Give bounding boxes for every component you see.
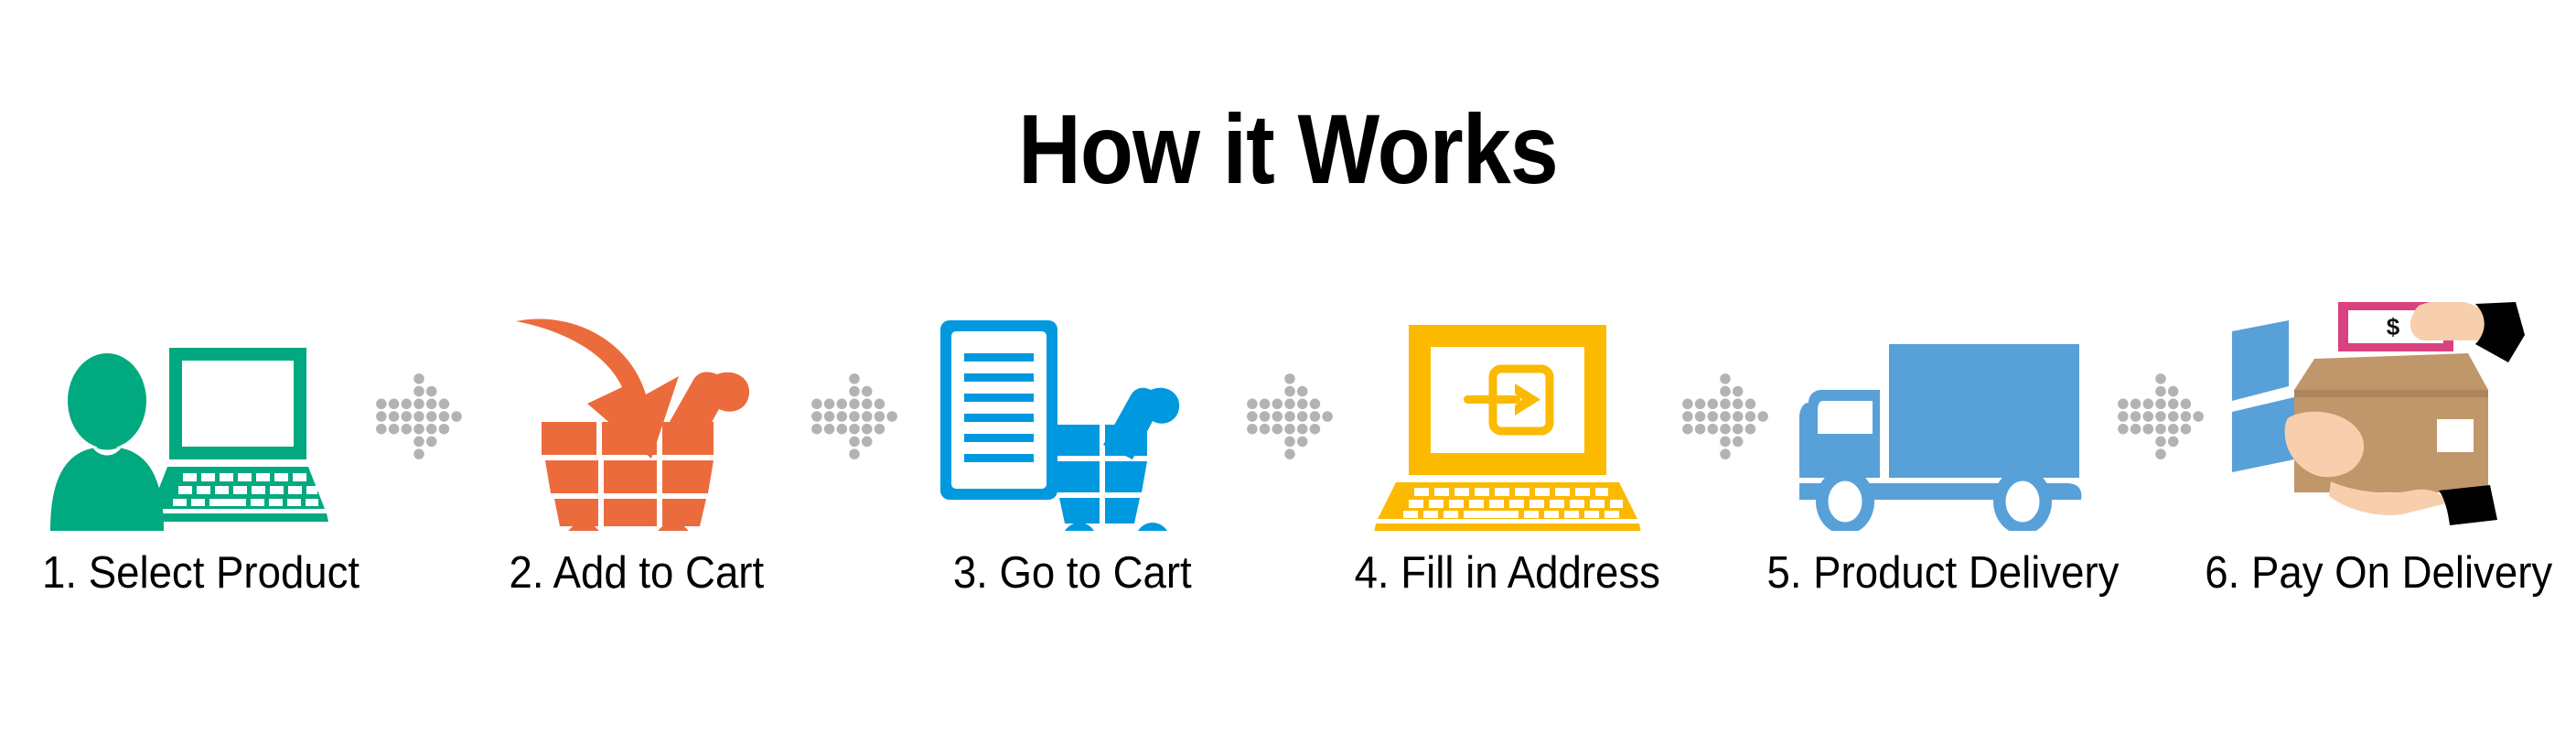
steps-row: 1. Select Product xyxy=(27,302,2549,668)
step-label: 2. Add to Cart xyxy=(510,547,765,599)
svg-text:$: $ xyxy=(2387,313,2400,340)
dotted-arrow-icon xyxy=(2117,302,2205,531)
step-label: 1. Select Product xyxy=(42,547,360,599)
infographic-canvas: How it Works xyxy=(0,0,2576,745)
step-label: 4. Fill in Address xyxy=(1355,547,1660,599)
dotted-arrow-icon xyxy=(1681,302,1769,531)
document-with-cart-icon xyxy=(898,302,1246,531)
step-label: 6. Pay On Delivery xyxy=(2205,547,2552,599)
dotted-arrow-icon xyxy=(810,302,898,531)
page-title: How it Works xyxy=(155,99,2421,200)
step-5-product-delivery[interactable]: 5. Product Delivery xyxy=(1769,302,2117,599)
step-4-fill-in-address[interactable]: 4. Fill in Address xyxy=(1334,302,1681,599)
person-at-computer-icon xyxy=(27,302,375,531)
step-label: 5. Product Delivery xyxy=(1767,547,2120,599)
dotted-arrow-icon xyxy=(1246,302,1334,531)
step-3-go-to-cart[interactable]: 3. Go to Cart xyxy=(898,302,1246,599)
step-2-add-to-cart[interactable]: 2. Add to Cart xyxy=(463,302,810,599)
hands-box-money-icon: $ xyxy=(2205,302,2552,531)
step-6-pay-on-delivery[interactable]: $ xyxy=(2205,302,2552,599)
dotted-arrow-icon xyxy=(375,302,463,531)
step-label: 3. Go to Cart xyxy=(953,547,1192,599)
monitor-form-entry-icon xyxy=(1334,302,1681,531)
delivery-truck-icon xyxy=(1769,302,2117,531)
step-1-select-product[interactable]: 1. Select Product xyxy=(27,302,375,599)
arrow-into-cart-icon xyxy=(463,302,810,531)
